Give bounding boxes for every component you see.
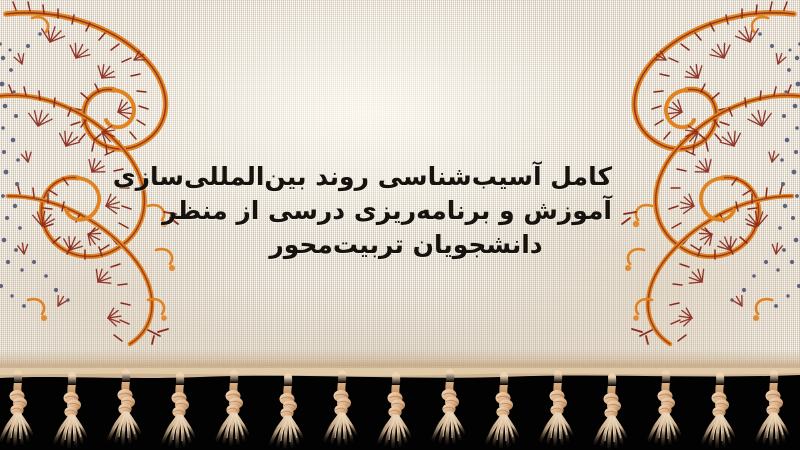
title-line-1: کامل آسیب‌شناسی روند بین‌المللی‌سازی <box>200 160 612 194</box>
title-line-3: دانشجویان تربیت‌محور <box>200 228 612 262</box>
title-line-2: آموزش و برنامه‌ریزی درسی از منظر <box>200 194 612 228</box>
banner-canvas: کامل آسیب‌شناسی روند بین‌المللی‌سازی آمو… <box>0 0 800 450</box>
knotted-tassel-fringe <box>0 366 800 450</box>
banner-title: کامل آسیب‌شناسی روند بین‌المللی‌سازی آمو… <box>200 160 612 262</box>
